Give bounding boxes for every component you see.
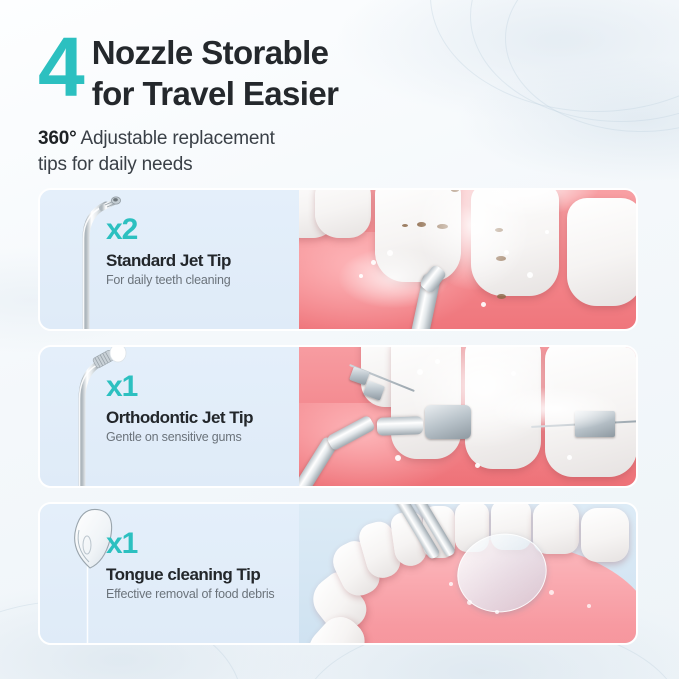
page-title: Nozzle Storable for Travel Easier: [92, 26, 339, 114]
jet-nozzle-wand: [377, 416, 424, 436]
water-droplet: [475, 463, 480, 468]
brace-bracket: [575, 411, 615, 437]
tip-card-left-panel: x2 Standard Jet Tip For daily teeth clea…: [40, 190, 299, 329]
debris-speck: [437, 224, 448, 229]
water-droplet: [504, 250, 509, 255]
count-number: 4: [38, 30, 82, 104]
tip-description: For daily teeth cleaning: [106, 272, 301, 288]
tip-description: Effective removal of food debris: [106, 586, 301, 602]
tip-card-text: x1 Tongue cleaning Tip Effective removal…: [106, 528, 301, 602]
water-droplet: [395, 455, 401, 461]
tooth: [471, 190, 559, 296]
tip-card-text: x1 Orthodontic Jet Tip Gentle on sensiti…: [106, 371, 301, 445]
tip-card-left-panel: x1 Orthodontic Jet Tip Gentle on sensiti…: [40, 347, 299, 486]
water-droplet: [567, 455, 572, 460]
water-droplet: [435, 359, 440, 364]
tip-name: Orthodontic Jet Tip: [106, 407, 301, 428]
tip-quantity: x1: [106, 528, 301, 560]
water-droplet: [587, 604, 591, 608]
tip-name: Tongue cleaning Tip: [106, 564, 301, 585]
tip-card-tongue[interactable]: x1 Tongue cleaning Tip Effective removal…: [38, 502, 638, 645]
subtitle: 360° Adjustable replacement tips for dai…: [38, 126, 638, 178]
water-droplet: [417, 369, 423, 375]
water-droplet: [549, 590, 554, 595]
water-droplet: [387, 250, 393, 256]
water-droplet: [359, 274, 363, 278]
nozzle-collar: [425, 405, 471, 439]
headline-line-1: Nozzle Storable: [92, 32, 339, 73]
tooth: [375, 190, 461, 282]
tip-name: Standard Jet Tip: [106, 250, 301, 271]
tooth: [567, 198, 636, 306]
water-droplet: [495, 610, 499, 614]
water-droplet: [527, 272, 533, 278]
tip-card-left-panel: x1 Tongue cleaning Tip Effective removal…: [40, 504, 299, 643]
tip-description: Gentle on sensitive gums: [106, 429, 301, 445]
water-droplet: [467, 600, 472, 605]
tooth: [315, 190, 371, 238]
subtitle-line-2: tips for daily needs: [38, 152, 638, 178]
tip-card-orthodontic[interactable]: x1 Orthodontic Jet Tip Gentle on sensiti…: [38, 345, 638, 488]
debris-speck: [496, 256, 506, 261]
tooth: [391, 347, 461, 459]
tip-card-text: x2 Standard Jet Tip For daily teeth clea…: [106, 214, 301, 288]
debris-speck: [495, 228, 503, 232]
water-droplet: [511, 371, 516, 376]
tooth: [465, 347, 541, 469]
subtitle-rest: Adjustable replacement: [77, 128, 275, 149]
headline-row: 4 Nozzle Storable for Travel Easier: [38, 26, 638, 114]
water-droplet: [371, 260, 376, 265]
tip-card-standard[interactable]: x2 Standard Jet Tip For daily teeth clea…: [38, 188, 638, 331]
tooth: [581, 508, 629, 562]
infographic-page: 4 Nozzle Storable for Travel Easier 360°…: [0, 0, 679, 679]
debris-speck: [417, 222, 426, 227]
braces-water-jet-photo: [299, 347, 636, 486]
tip-quantity: x1: [106, 371, 301, 403]
headline-line-2: for Travel Easier: [92, 73, 339, 114]
header: 4 Nozzle Storable for Travel Easier 360°…: [38, 26, 638, 178]
water-droplet: [481, 302, 486, 307]
tip-quantity: x2: [106, 214, 301, 246]
water-droplet: [545, 230, 549, 234]
molar-water-jet-photo: [299, 190, 636, 329]
subtitle-degrees: 360°: [38, 128, 77, 149]
debris-speck: [497, 294, 506, 299]
tooth: [533, 504, 579, 554]
debris-speck: [402, 224, 408, 227]
water-droplet: [449, 582, 453, 586]
tongue-scraper-arch-photo: [299, 504, 636, 643]
